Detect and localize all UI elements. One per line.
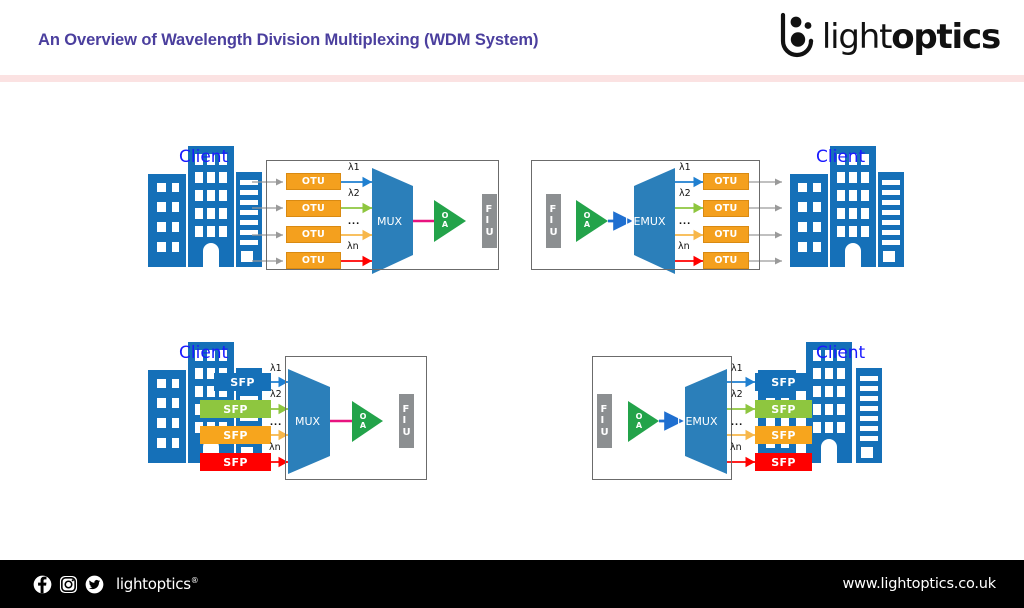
lambda-label-tx-bottom-2: λ2	[270, 389, 282, 400]
lambda-label-rx-bottom-2: λ2	[731, 389, 743, 400]
twitter-icon[interactable]	[85, 575, 104, 594]
oa-label-top-rx: OA	[581, 211, 593, 229]
lambda-label-rx-3: ...	[679, 215, 691, 227]
sfp-module-tx-1[interactable]: SFP	[214, 373, 271, 391]
client-label-right-top: Client	[816, 147, 865, 167]
sfp-module-tx-4[interactable]: SFP	[200, 453, 271, 471]
slide-root: An Overview of Wavelength Division Multi…	[0, 0, 1024, 608]
sfp-module-tx-2[interactable]: SFP	[200, 400, 271, 418]
lambda-label-rx-bottom-4: λn	[730, 442, 742, 453]
oa-label-top-tx: OA	[439, 211, 451, 229]
lambda-label-tx-1: λ1	[348, 162, 360, 173]
lambda-label-rx-bottom-1: λ1	[731, 363, 743, 374]
otu-module-rx-3[interactable]: OTU	[703, 226, 749, 243]
fiu-module-top-rx: FIU	[546, 194, 561, 248]
demux-label-top: DEMUX	[625, 215, 666, 228]
fiu-module-top-tx: FIU	[482, 194, 497, 248]
logo-word-optics: optics	[891, 17, 1000, 57]
oa-label-bottom-tx: OA	[357, 412, 369, 430]
lambda-label-tx-bottom-1: λ1	[270, 363, 282, 374]
facebook-icon[interactable]	[33, 575, 52, 594]
sfp-module-rx-2[interactable]: SFP	[755, 400, 812, 418]
lambda-label-rx-2: λ2	[679, 188, 691, 199]
mux-label-top: MUX	[377, 215, 402, 228]
lambda-label-tx-bottom-3: ...	[270, 416, 282, 428]
otu-module-rx-2[interactable]: OTU	[703, 200, 749, 217]
demux-label-bottom: DEMUX	[677, 415, 718, 428]
client-label-left-bottom: Client	[179, 343, 228, 363]
lambda-label-tx-2: λ2	[348, 188, 360, 199]
client-label-right-bottom: Client	[816, 343, 865, 363]
sfp-module-rx-4[interactable]: SFP	[755, 453, 812, 471]
wdm-diagram-area: Client Client OTU OTU OTU OTU λ1 λ2 ... …	[0, 82, 1024, 560]
lambda-label-tx-4: λn	[347, 241, 359, 252]
otu-module-tx-2[interactable]: OTU	[286, 200, 341, 217]
oa-label-bottom-rx: OA	[633, 412, 645, 430]
logo-mark-icon	[775, 11, 821, 61]
page-header: An Overview of Wavelength Division Multi…	[0, 0, 1024, 75]
footer-social-group: lightoptics®	[33, 560, 198, 608]
header-divider	[0, 75, 1024, 82]
lambda-label-rx-4: λn	[678, 241, 690, 252]
footer-website-url[interactable]: www.lightoptics.co.uk	[842, 560, 996, 608]
sfp-module-rx-1[interactable]: SFP	[755, 373, 812, 391]
page-footer: lightoptics® www.lightoptics.co.uk	[0, 560, 1024, 608]
otu-module-tx-4[interactable]: OTU	[286, 252, 341, 269]
otu-module-rx-1[interactable]: OTU	[703, 173, 749, 190]
lambda-label-tx-3: ...	[348, 215, 360, 227]
page-title: An Overview of Wavelength Division Multi…	[38, 31, 538, 50]
client-label-left-top: Client	[179, 147, 228, 167]
fiu-module-bottom-rx: FIU	[597, 394, 612, 448]
lambda-label-rx-1: λ1	[679, 162, 691, 173]
logo-wordmark: lightoptics	[822, 20, 1000, 54]
lambda-label-tx-bottom-4: λn	[269, 442, 281, 453]
lambda-label-rx-bottom-3: ...	[731, 416, 743, 428]
lightoptics-logo[interactable]: lightoptics	[775, 10, 1000, 62]
sfp-module-rx-3[interactable]: SFP	[755, 426, 812, 444]
diagram-vector-layer	[0, 82, 1024, 560]
footer-brand-label: lightoptics®	[116, 575, 198, 593]
otu-module-tx-1[interactable]: OTU	[286, 173, 341, 190]
otu-module-rx-4[interactable]: OTU	[703, 252, 749, 269]
fiu-module-bottom-tx: FIU	[399, 394, 414, 448]
logo-word-light: light	[822, 17, 891, 57]
otu-module-tx-3[interactable]: OTU	[286, 226, 341, 243]
mux-label-bottom: MUX	[295, 415, 320, 428]
sfp-module-tx-3[interactable]: SFP	[200, 426, 271, 444]
registered-mark: ®	[191, 576, 199, 585]
instagram-icon[interactable]	[59, 575, 78, 594]
